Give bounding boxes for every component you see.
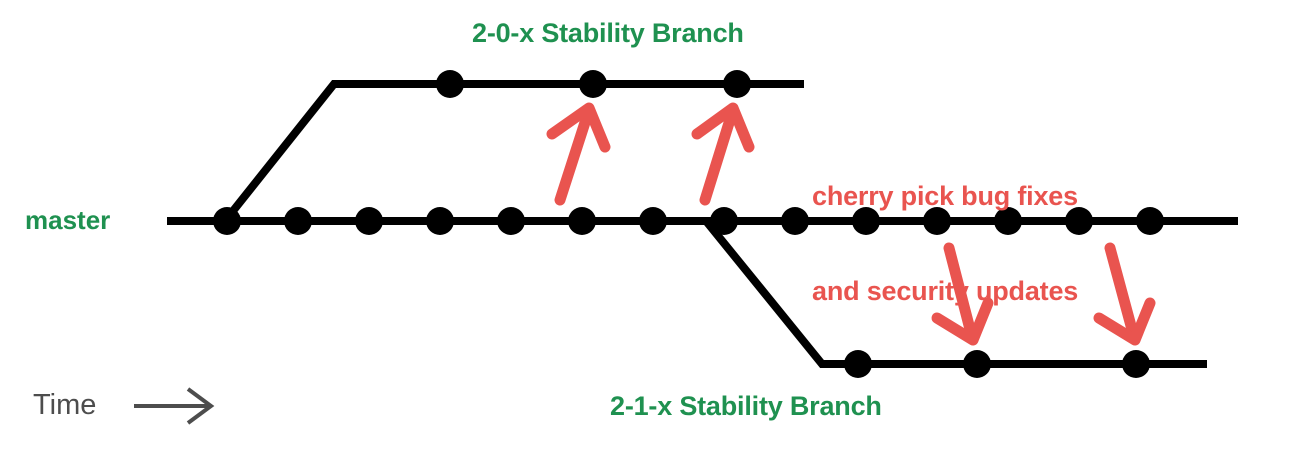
commit-dot — [355, 207, 383, 235]
commit-dot — [639, 207, 667, 235]
commit-dot — [426, 207, 454, 235]
annotation-line-1: cherry pick bug fixes — [812, 181, 1078, 213]
master-branch-label: master — [25, 205, 110, 236]
commit-dot — [213, 207, 241, 235]
commit-dot — [579, 70, 607, 98]
time-axis-label: Time — [33, 388, 96, 422]
git-branching-diagram: 2-0-x Stability Branch master cherry pic… — [0, 0, 1310, 456]
top-branch-label: 2-0-x Stability Branch — [472, 18, 744, 50]
commit-dot — [436, 70, 464, 98]
cherry-pick-arrow-down-2 — [1099, 248, 1150, 340]
time-axis-arrow-icon — [134, 389, 211, 423]
commit-dot — [723, 70, 751, 98]
commit-dot — [1122, 350, 1150, 378]
commit-dot — [497, 207, 525, 235]
branch-graph-canvas — [0, 0, 1310, 456]
cherry-pick-annotation: cherry pick bug fixes and security updat… — [812, 117, 1078, 372]
cherry-pick-arrow-up-2 — [697, 108, 749, 200]
annotation-line-2: and security updates — [812, 276, 1078, 308]
cherry-pick-arrow-up-1 — [552, 108, 605, 200]
bottom-branch-label: 2-1-x Stability Branch — [610, 391, 882, 423]
commit-dot — [568, 207, 596, 235]
commit-dot — [781, 207, 809, 235]
commit-dot — [284, 207, 312, 235]
commit-dot — [1136, 207, 1164, 235]
commit-dot — [710, 207, 738, 235]
